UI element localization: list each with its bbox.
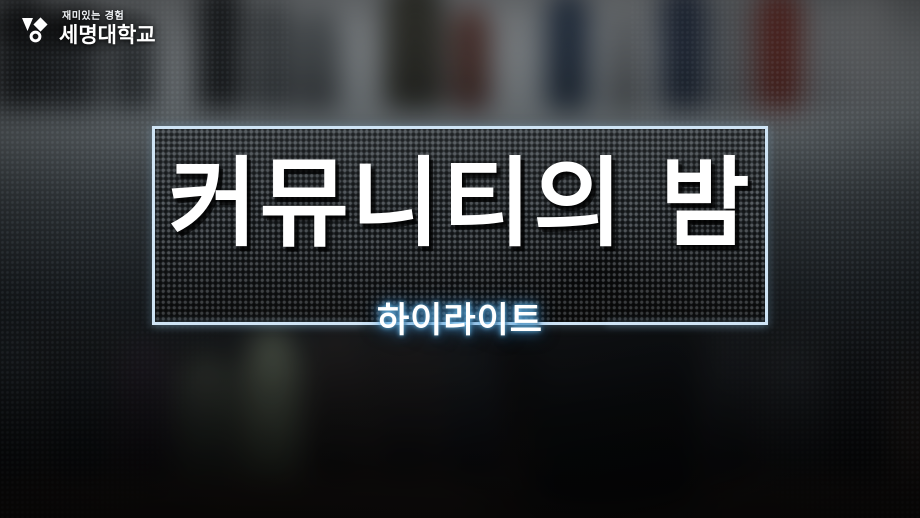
page-subtitle: 하이라이트 — [155, 292, 765, 343]
logo-tagline: 재미있는 경험 — [62, 12, 156, 22]
title-frame: 커뮤니티의 밤 하이라이트 — [152, 126, 768, 325]
page-title: 커뮤니티의 밤 — [155, 155, 765, 252]
video-frame: 커뮤니티의 밤 하이라이트 재미있는 경험 세명대학교 — [0, 0, 920, 518]
triangle-diamond-circle-icon — [10, 14, 52, 44]
logo-university-name: 세명대학교 — [59, 25, 156, 46]
university-logo: 재미있는 경험 세명대학교 — [10, 12, 156, 46]
logo-wordmark: 재미있는 경험 세명대학교 — [59, 12, 156, 46]
